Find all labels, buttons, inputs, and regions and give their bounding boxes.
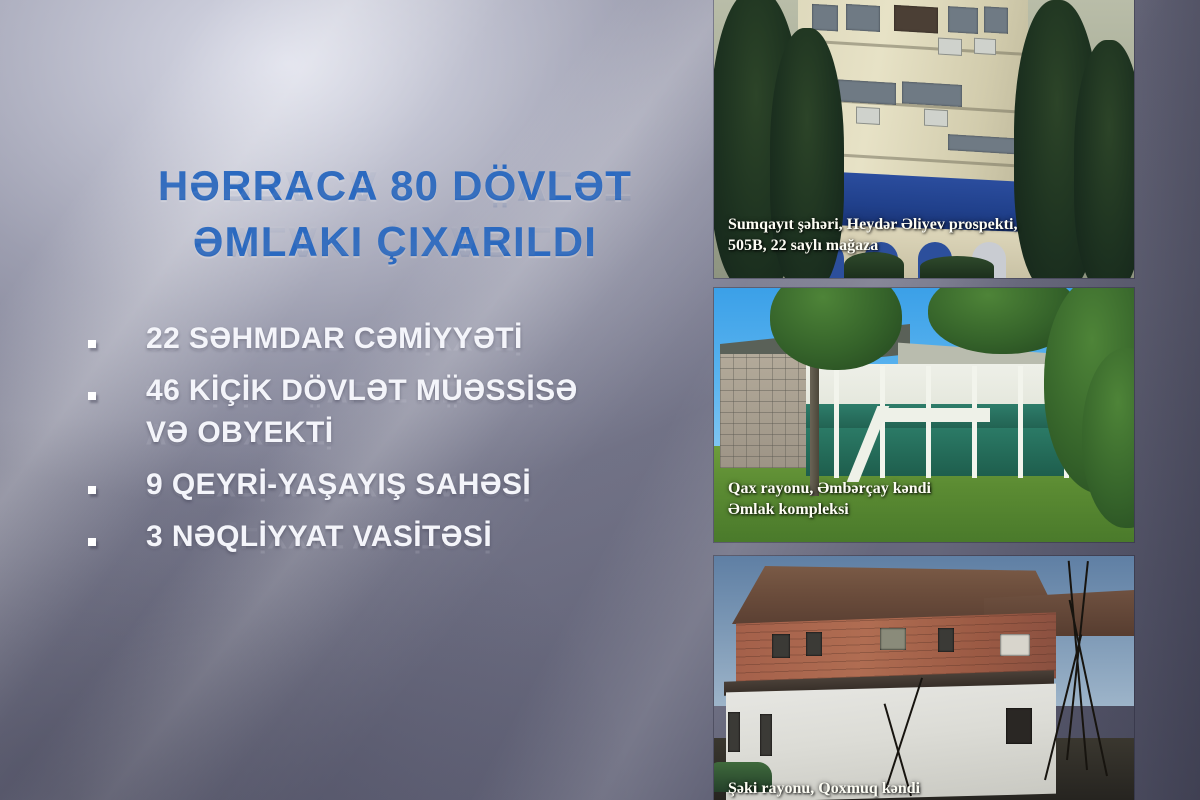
caption-line: Sumqayıt şəhəri, Heydər Əliyev prospekti… [728, 214, 1124, 235]
title-line-2: ƏMLAKI ÇIXARILDI [95, 214, 695, 270]
title-line-1: HƏRRACA 80 DÖVLƏT [95, 158, 695, 214]
bullet-square-icon [88, 392, 96, 400]
balcony-rail [880, 408, 990, 422]
bullet-line: 22 SƏHMDAR CƏMİYYƏTİ [146, 318, 700, 360]
bullet-line: 46 KİÇİK DÖVLƏT MÜƏSSİSƏ [146, 370, 700, 412]
bullet-line: 9 QEYRİ-YAŞAYIŞ SAHƏSİ [146, 464, 700, 506]
photo-caption: Qax rayonu, Əmbərçay kəndi Əmlak komplek… [728, 478, 1124, 520]
bullet-square-icon [88, 538, 96, 546]
bullet-square-icon [88, 486, 96, 494]
photo-caption: Sumqayıt şəhəri, Heydər Əliyev prospekti… [728, 214, 1124, 256]
photo-sumqayit-shop: Sumqayıt şəhəri, Heydər Əliyev prospekti… [714, 0, 1134, 278]
caption-line: Qax rayonu, Əmbərçay kəndi [728, 478, 1124, 499]
caption-line: Əmlak kompleksi [728, 499, 1124, 520]
bullet-list: 22 SƏHMDAR CƏMİYYƏTİ 46 KİÇİK DÖVLƏT MÜƏ… [80, 318, 700, 568]
list-item: 3 NƏQLİYYAT VASİTƏSİ [80, 516, 700, 558]
list-item: 22 SƏHMDAR CƏMİYYƏTİ [80, 318, 700, 360]
list-item: 46 KİÇİK DÖVLƏT MÜƏSSİSƏ VƏ OBYEKTİ [80, 370, 700, 454]
photo-qax-complex: Qax rayonu, Əmbərçay kəndi Əmlak komplek… [714, 288, 1134, 542]
bullet-square-icon [88, 340, 96, 348]
caption-line: 505B, 22 saylı mağaza [728, 235, 1124, 256]
bullet-line: 3 NƏQLİYYAT VASİTƏSİ [146, 516, 700, 558]
caption-line: Şəki rayonu, Qoxmuq kəndi [728, 778, 1124, 799]
bullet-text: 46 KİÇİK DÖVLƏT MÜƏSSİSƏ VƏ OBYEKTİ [146, 370, 700, 454]
photo-scene [714, 556, 1134, 800]
bullet-text: 3 NƏQLİYYAT VASİTƏSİ [146, 516, 700, 558]
stone-wall [720, 354, 806, 468]
bullet-line: VƏ OBYEKTİ [146, 412, 700, 454]
bullet-text: 22 SƏHMDAR CƏMİYYƏTİ [146, 318, 700, 360]
presentation-slide: HƏRRACA 80 DÖVLƏT ƏMLAKI ÇIXARILDI 22 SƏ… [0, 0, 1200, 800]
page-title: HƏRRACA 80 DÖVLƏT ƏMLAKI ÇIXARILDI [95, 158, 695, 270]
list-item: 9 QEYRİ-YAŞAYIŞ SAHƏSİ [80, 464, 700, 506]
photo-shaki-house: Şəki rayonu, Qoxmuq kəndi [714, 556, 1134, 800]
bullet-text: 9 QEYRİ-YAŞAYIŞ SAHƏSİ [146, 464, 700, 506]
photo-caption: Şəki rayonu, Qoxmuq kəndi [728, 778, 1124, 799]
